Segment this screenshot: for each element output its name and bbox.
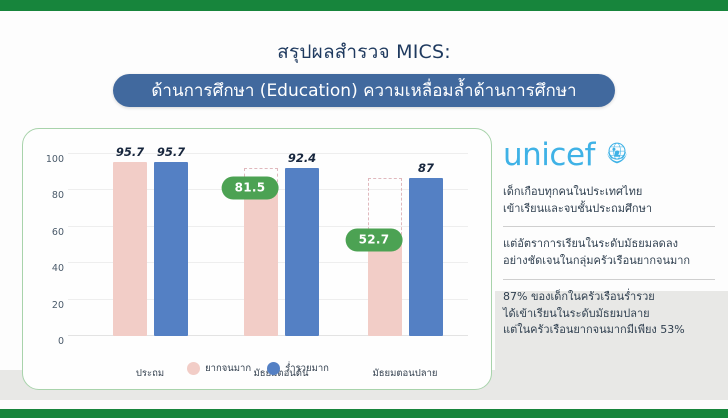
right-info-panel: unicef เด็กเกือบท — [503, 135, 715, 348]
info-text-line: ได้เข้าเรียนในระดับมัธยมปลาย — [503, 306, 715, 323]
bar-value-label: 87 — [418, 161, 434, 175]
page-title: สรุปผลสำรวจ MICS: — [0, 37, 728, 67]
legend-label: ร่ำรวยมาก — [285, 361, 329, 376]
unicef-wordmark: unicef — [503, 140, 595, 171]
info-text-block: แต่อัตราการเรียนในระดับมัธยมลดลงอย่างชัด… — [503, 226, 715, 278]
slide-root: สรุปผลสำรวจ MICS: ด้านการศึกษา (Educatio… — [0, 0, 728, 418]
info-text-block: 87% ของเด็กในครัวเรือนร่ำรวยได้เข้าเรียน… — [503, 279, 715, 348]
bar-poorest[interactable] — [368, 240, 402, 336]
legend-swatch — [187, 362, 200, 375]
chart-card: 020406080100ประถมมัธยมตอนต้นมัธยมตอนปลาย… — [22, 128, 492, 390]
chart-legend: ยากจนมากร่ำรวยมาก — [23, 361, 493, 376]
info-text-line: แต่ในครัวเรือนยากจนมากมีเพียง 53% — [503, 322, 715, 339]
legend-item[interactable]: ร่ำรวยมาก — [267, 361, 329, 376]
legend-label: ยากจนมาก — [205, 361, 251, 376]
info-text-block: เด็กเกือบทุกคนในประเทศไทยเข้าเรียนและจบช… — [503, 175, 715, 226]
bar-poorest[interactable] — [244, 188, 278, 336]
slide-body: สรุปผลสำรวจ MICS: ด้านการศึกษา (Educatio… — [0, 11, 728, 409]
info-text-line: แต่อัตราการเรียนในระดับมัธยมลดลง — [503, 236, 715, 253]
gap-value-badge: 81.5 — [222, 176, 279, 199]
unicef-emblem-icon — [602, 138, 632, 172]
info-text-line: เด็กเกือบทุกคนในประเทศไทย — [503, 184, 715, 201]
bar-value-label: 95.7 — [157, 145, 185, 159]
info-text-line: 87% ของเด็กในครัวเรือนร่ำรวย — [503, 289, 715, 306]
bar-group — [113, 154, 188, 336]
info-text-line: อย่างชัดเจนในกลุ่มครัวเรือนยากจนมาก — [503, 253, 715, 270]
legend-swatch — [267, 362, 280, 375]
bar-value-label: 92.4 — [288, 151, 316, 165]
bar-poorest[interactable] — [113, 162, 147, 336]
top-accent-bar — [0, 0, 728, 11]
unicef-logo: unicef — [503, 135, 715, 175]
bar-richest[interactable] — [409, 178, 443, 336]
bar-richest[interactable] — [154, 162, 188, 336]
bottom-accent-bar — [0, 409, 728, 418]
info-text-blocks: เด็กเกือบทุกคนในประเทศไทยเข้าเรียนและจบช… — [503, 175, 715, 348]
legend-item[interactable]: ยากจนมาก — [187, 361, 251, 376]
chart-plot-area: 020406080100ประถมมัธยมตอนต้นมัธยมตอนปลาย… — [68, 154, 468, 336]
gap-value-badge: 52.7 — [346, 229, 403, 252]
subtitle-pill: ด้านการศึกษา (Education) ความเหลื่อมล้ำด… — [113, 74, 615, 107]
bar-value-label: 95.7 — [116, 145, 144, 159]
bar-richest[interactable] — [285, 168, 319, 336]
info-text-line: เข้าเรียนและจบชั้นประถมศึกษา — [503, 201, 715, 218]
